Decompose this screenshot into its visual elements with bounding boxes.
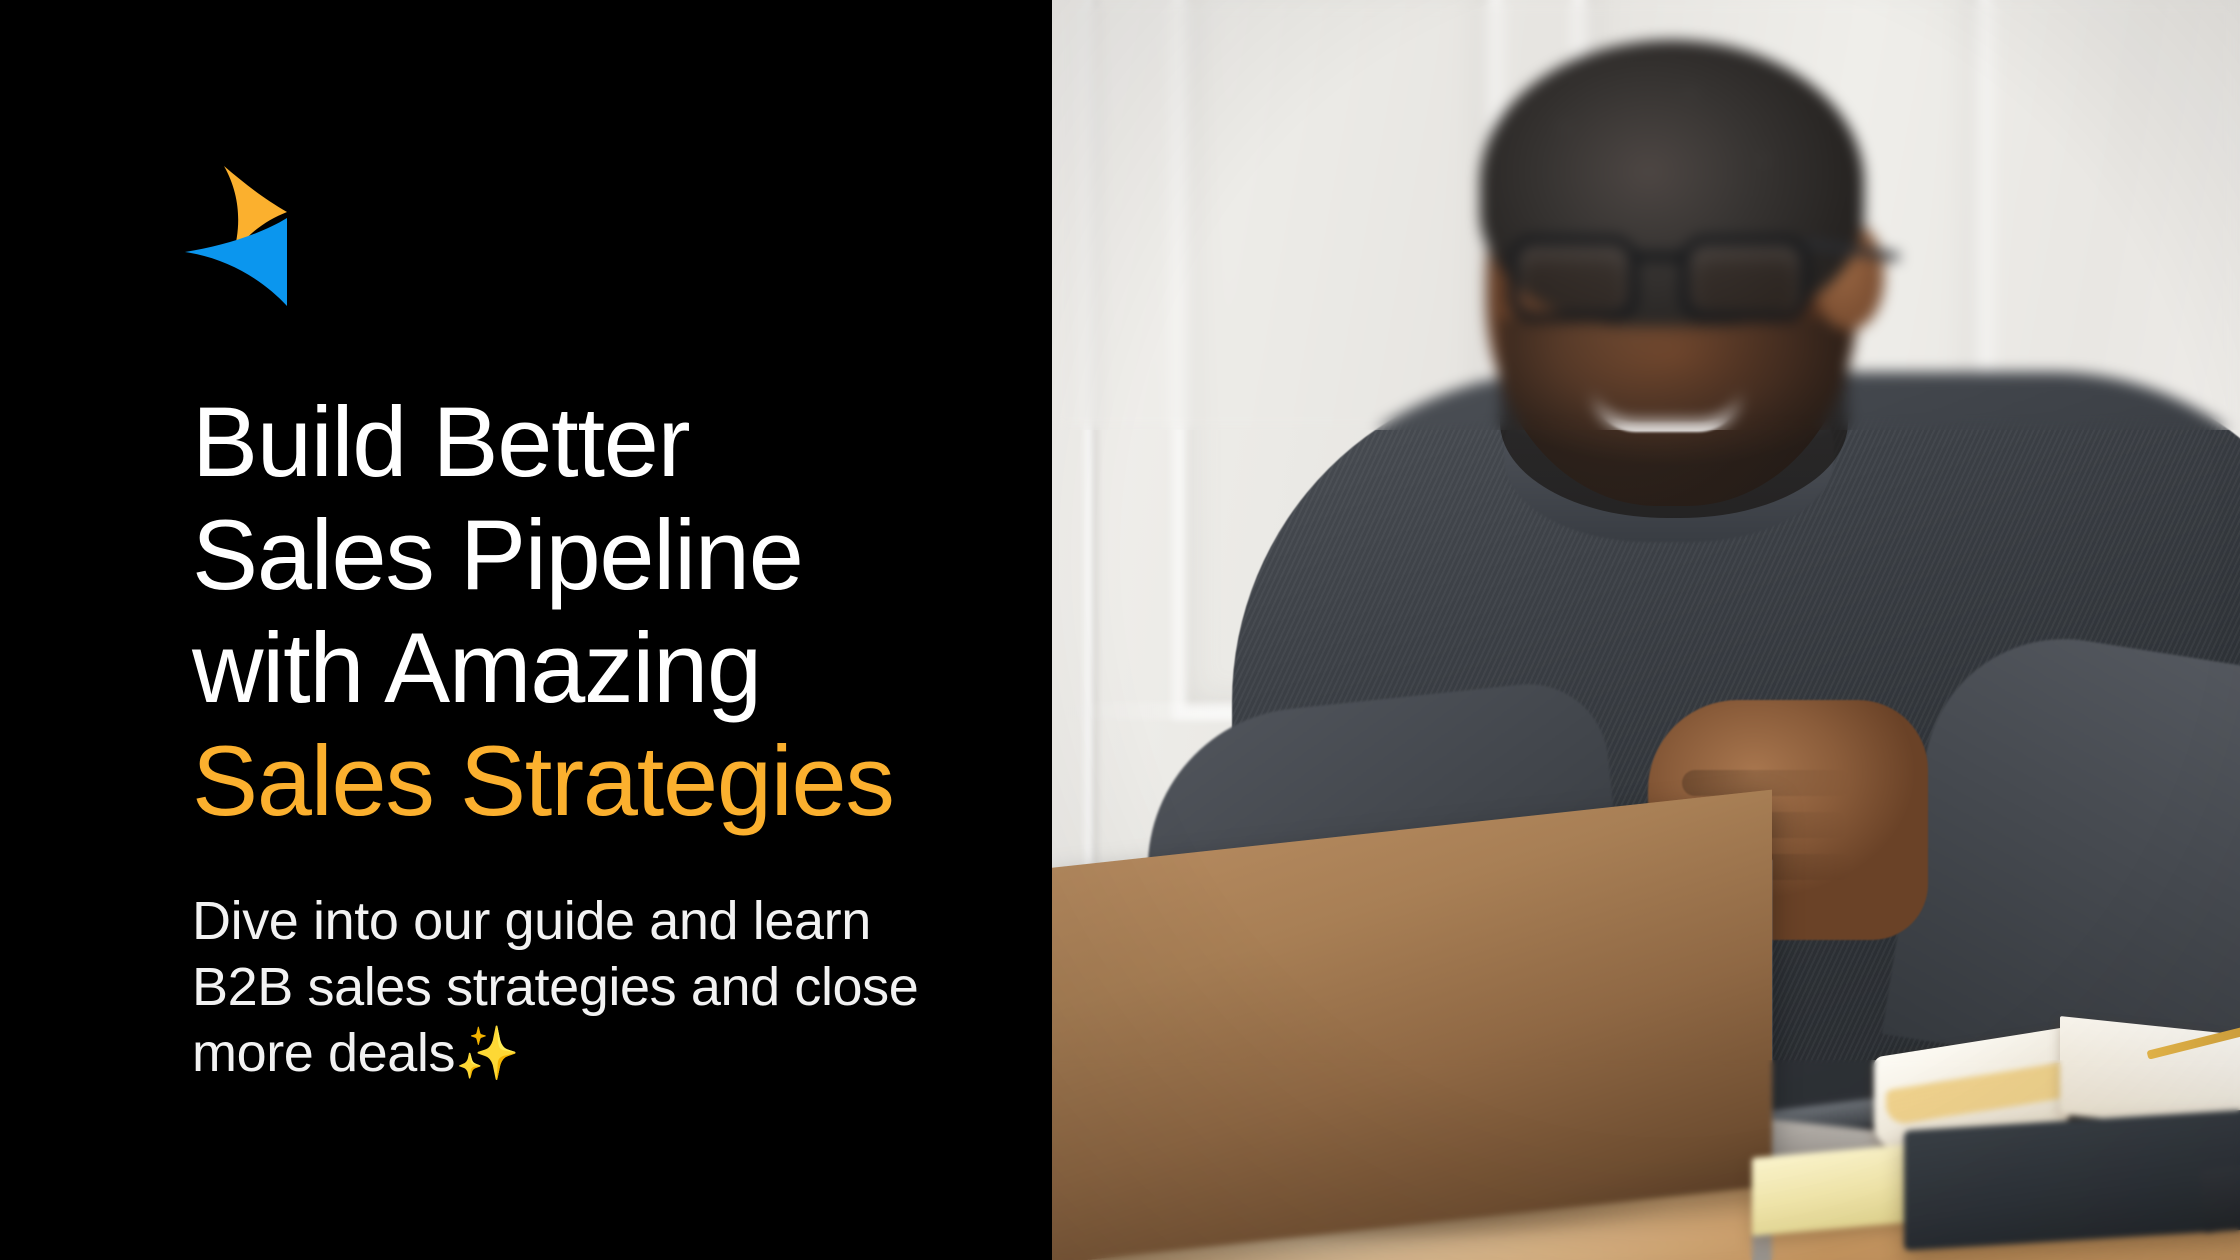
- hero-photo: [1052, 0, 2240, 1260]
- arrow-mark-logo-icon[interactable]: [183, 158, 293, 308]
- subheading-line-3-text: more deals: [192, 1023, 455, 1083]
- eyeglass-lens-right: [1680, 236, 1810, 322]
- notebook-elastic-band: [2200, 1162, 2240, 1233]
- page-title: Build Better Sales Pipeline with Amazing…: [192, 385, 1022, 837]
- laptop: [1052, 790, 1772, 1260]
- banner-canvas: Build Better Sales Pipeline with Amazing…: [0, 0, 2240, 1260]
- headline-line-1: Build Better: [192, 385, 1022, 498]
- headline-line-2: Sales Pipeline: [192, 498, 1022, 611]
- subheading-line-1: Dive into our guide and learn: [192, 888, 1022, 954]
- headline-line-3: with Amazing: [192, 611, 1022, 724]
- left-content-panel: Build Better Sales Pipeline with Amazing…: [0, 0, 1052, 1260]
- sparkles-icon: ✨: [455, 1025, 519, 1083]
- eyeglass-lens-left: [1508, 236, 1638, 322]
- closed-notebook: [1904, 1109, 2240, 1250]
- eyeglass-bridge: [1636, 252, 1686, 261]
- subheading-line-3: more deals✨: [192, 1020, 1022, 1087]
- headline-line-4-accent: Sales Strategies: [192, 724, 1022, 837]
- subheading-line-2: B2B sales strategies and close: [192, 954, 1022, 1020]
- subheading: Dive into our guide and learn B2B sales …: [192, 888, 1022, 1087]
- eyeglasses-icon: [1504, 228, 1844, 324]
- person-smile: [1592, 388, 1742, 432]
